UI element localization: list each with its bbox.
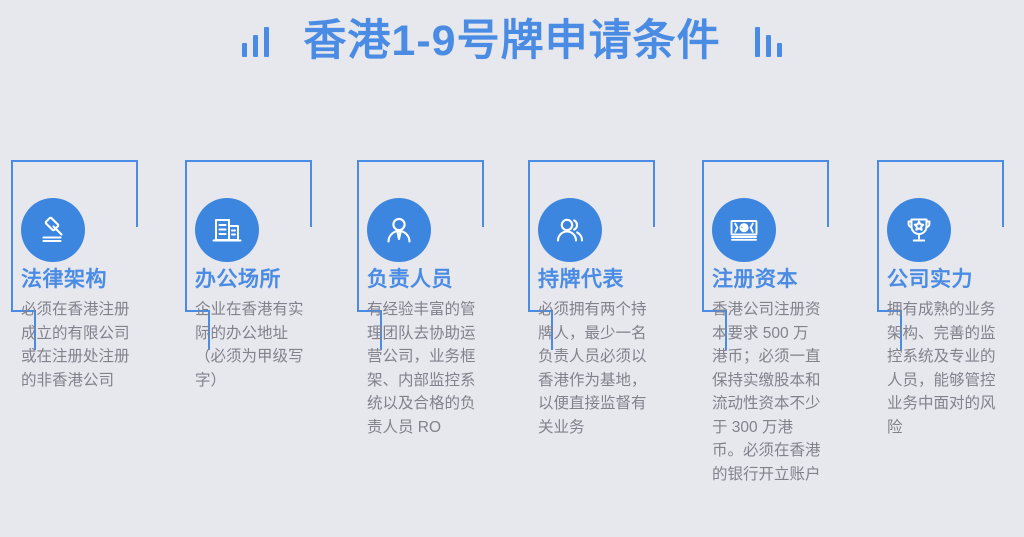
infographic-page: 香港1-9号牌申请条件 法律架构 必须在香港注册成立的有限公司或在注册处注册的	[0, 0, 1024, 537]
card-title: 负责人员	[367, 268, 507, 291]
card-legal-structure[interactable]: 法律架构 必须在香港注册成立的有限公司或在注册处注册的非香港公司	[2, 158, 162, 537]
card-title: 持牌代表	[538, 268, 678, 291]
person-tie-icon	[367, 198, 431, 262]
card-title: 办公场所	[195, 268, 335, 291]
office-building-icon	[195, 198, 259, 262]
bracket-top-rail	[185, 160, 312, 162]
bracket-top-right-stub	[482, 160, 484, 227]
bracket-top-rail	[11, 160, 138, 162]
page-title: 香港1-9号牌申请条件	[303, 20, 720, 63]
page-header: 香港1-9号牌申请条件	[0, 20, 1024, 63]
card-title: 注册资本	[712, 268, 852, 291]
banknote-dollar-icon	[712, 198, 776, 262]
card-body: 必须拥有两个持牌人，最少一名负责人员必须以香港作为基地，以便直接监督有关业务	[538, 298, 648, 439]
bracket-top-right-stub	[653, 160, 655, 227]
two-people-icon	[538, 198, 602, 262]
bracket-top-rail	[357, 160, 484, 162]
bracket-top-right-stub	[136, 160, 138, 227]
bracket-left-rail	[11, 160, 13, 312]
bracket-top-rail	[528, 160, 655, 162]
card-body: 香港公司注册资本要求 500 万港币；必须一直保持实缴股本和流动性资本不少于 3…	[712, 298, 822, 486]
bracket-left-rail	[357, 160, 359, 312]
descending-bars-icon	[755, 27, 782, 57]
card-company-strength[interactable]: 公司实力 拥有成熟的业务架构、完善的监控系统及专业的人员，能够管控业务中面对的风…	[868, 158, 1024, 537]
trophy-star-icon	[887, 198, 951, 262]
card-body: 有经验丰富的管理团队去协助运营公司，业务框架、内部监控系统以及合格的负责人员 R…	[367, 298, 477, 439]
card-licensed-representative[interactable]: 持牌代表 必须拥有两个持牌人，最少一名负责人员必须以香港作为基地，以便直接监督有…	[519, 158, 679, 537]
bracket-left-rail	[528, 160, 530, 312]
card-title: 法律架构	[21, 268, 161, 291]
card-responsible-personnel[interactable]: 负责人员 有经验丰富的管理团队去协助运营公司，业务框架、内部监控系统以及合格的负…	[348, 158, 508, 537]
bracket-left-rail	[185, 160, 187, 312]
gavel-icon	[21, 198, 85, 262]
card-body: 必须在香港注册成立的有限公司或在注册处注册的非香港公司	[21, 298, 131, 392]
bracket-top-rail	[702, 160, 829, 162]
ascending-bars-icon	[242, 27, 269, 57]
card-registered-capital[interactable]: 注册资本 香港公司注册资本要求 500 万港币；必须一直保持实缴股本和流动性资本…	[693, 158, 853, 537]
condition-cards: 法律架构 必须在香港注册成立的有限公司或在注册处注册的非香港公司	[0, 158, 1024, 537]
bracket-left-rail	[877, 160, 879, 312]
bracket-top-rail	[877, 160, 1004, 162]
bracket-top-right-stub	[827, 160, 829, 227]
bracket-top-right-stub	[310, 160, 312, 227]
bracket-left-rail	[702, 160, 704, 312]
card-body: 拥有成熟的业务架构、完善的监控系统及专业的人员，能够管控业务中面对的风险	[887, 298, 997, 439]
bracket-top-right-stub	[1002, 160, 1004, 227]
card-title: 公司实力	[887, 268, 1024, 291]
card-body: 企业在香港有实际的办公地址（必须为甲级写字）	[195, 298, 305, 392]
card-office-premises[interactable]: 办公场所 企业在香港有实际的办公地址（必须为甲级写字）	[176, 158, 336, 537]
